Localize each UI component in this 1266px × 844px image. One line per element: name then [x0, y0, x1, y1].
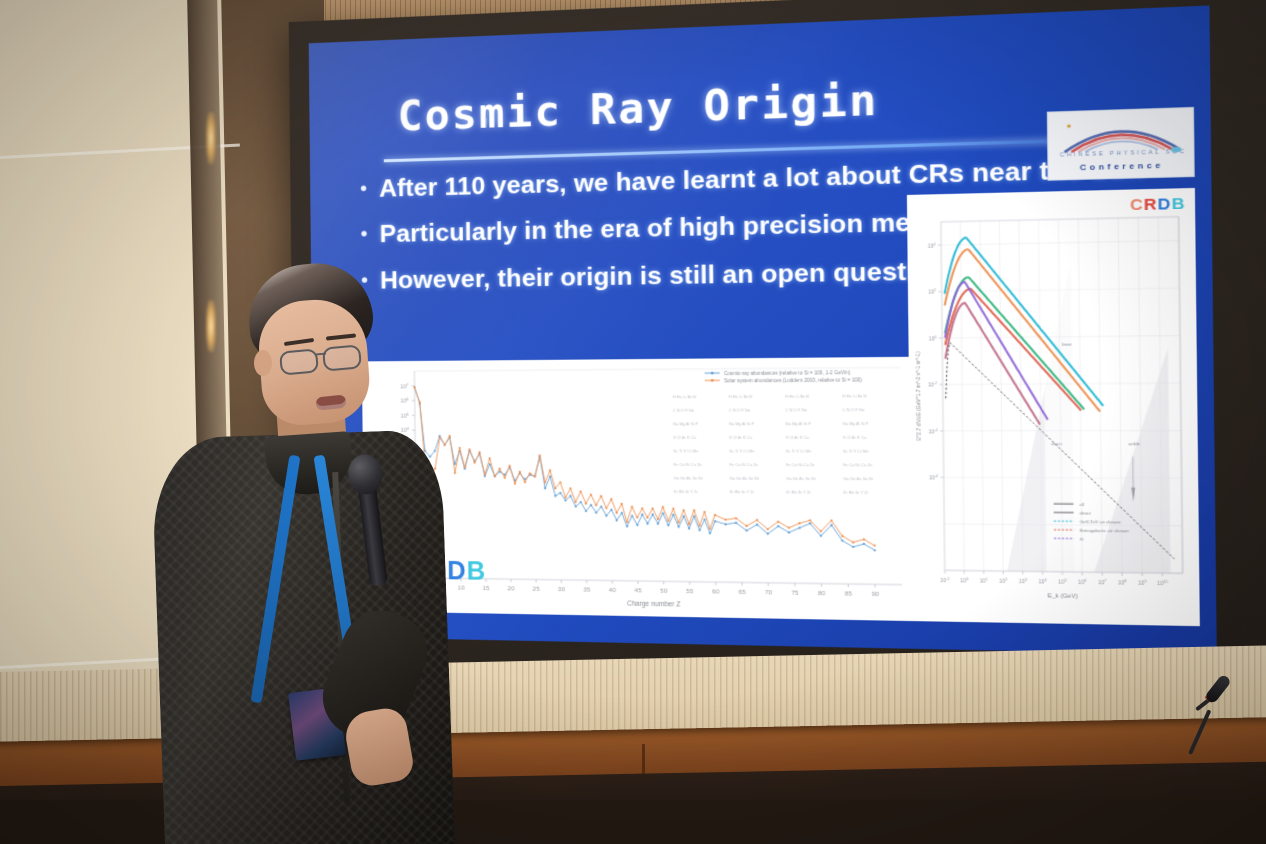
svg-text:knee: knee: [1062, 342, 1073, 348]
svg-text:Sc Ti V Cr Mn: Sc Ti V Cr Mn: [729, 449, 754, 453]
conference-logo: CHINESE PHYSICAL SOCIETY Conference: [1047, 107, 1195, 181]
svg-text:H He Li Be B: H He Li Be B: [729, 395, 753, 399]
svg-text:ankle: ankle: [1129, 441, 1141, 446]
svg-text:Sc Ti V Cr Mn: Sc Ti V Cr Mn: [786, 449, 812, 453]
svg-text:GeV-TeV air shower: GeV-TeV air shower: [1080, 519, 1122, 525]
svg-text:S Cl Ar K Ca: S Cl Ar K Ca: [673, 436, 697, 440]
svg-text:Sc Ti V Cr Mn: Sc Ti V Cr Mn: [843, 449, 869, 453]
svg-text:20: 20: [508, 586, 516, 592]
svg-text:direct: direct: [1080, 510, 1092, 516]
svg-text:E_k (GeV): E_k (GeV): [1048, 593, 1078, 600]
svg-text:C N O F Ne: C N O F Ne: [842, 408, 864, 412]
svg-text:H He Li Be B: H He Li Be B: [673, 395, 697, 399]
svg-text:55: 55: [686, 589, 694, 595]
svg-text:45: 45: [634, 588, 642, 594]
svg-text:S Cl Ar K Ca: S Cl Ar K Ca: [843, 436, 868, 440]
svg-text:Fe Co Ni Cu Zn: Fe Co Ni Cu Zn: [786, 463, 815, 467]
svg-text:90: 90: [872, 592, 880, 599]
speaker-ear: [254, 350, 272, 376]
svg-text:35: 35: [583, 587, 591, 593]
svg-text:70: 70: [765, 590, 773, 596]
svg-text:Na Mg Al Si P: Na Mg Al Si P: [843, 422, 869, 426]
crdb-letter-c: C: [1130, 196, 1144, 215]
crdb-letter-d: D: [1158, 195, 1172, 214]
bullet-marker-icon: •: [360, 176, 367, 200]
speaker: [120, 258, 480, 844]
svg-text:Kr Rb Sr Y Zr: Kr Rb Sr Y Zr: [843, 491, 869, 495]
glasses-lens-left: [279, 348, 319, 375]
slide-title: Cosmic Ray Origin: [397, 75, 879, 141]
bullet-marker-icon: •: [360, 222, 367, 246]
crdb-watermark-right: CRDB: [1130, 195, 1186, 215]
svg-text:Na Mg Al Si P: Na Mg Al Si P: [785, 422, 811, 426]
svg-text:50: 50: [660, 588, 668, 594]
svg-text:S Cl Ar K Ca: S Cl Ar K Ca: [786, 436, 810, 440]
wall-light-upper: [206, 112, 216, 164]
crdb-letter-b: B: [1172, 195, 1186, 214]
svg-text:Cosmic-ray abundances (relativ: Cosmic-ray abundances (relative to Si = …: [724, 370, 851, 376]
svg-text:Fe Co Ni Cu Zn: Fe Co Ni Cu Zn: [729, 463, 758, 467]
microphone-head: [346, 452, 385, 496]
svg-text:Ga Ge As Se Br: Ga Ge As Se Br: [674, 476, 704, 480]
glasses-lens-right: [322, 344, 362, 371]
svg-text:Sc Ti V Cr Mn: Sc Ti V Cr Mn: [673, 449, 698, 453]
svg-text:C N O F Ne: C N O F Ne: [785, 408, 807, 412]
svg-text:30: 30: [558, 587, 566, 593]
svg-text:60: 60: [712, 589, 720, 595]
svg-text:Charge number Z: Charge number Z: [627, 600, 681, 608]
svg-text:H He Li Be B: H He Li Be B: [785, 395, 810, 399]
svg-text:Kr Rb Sr Y Zr: Kr Rb Sr Y Zr: [674, 490, 699, 494]
svg-text:all: all: [1079, 502, 1084, 507]
svg-text:H He Li Be B: H He Li Be B: [842, 394, 867, 398]
svg-text:Extragalactic air shower: Extragalactic air shower: [1080, 528, 1130, 534]
svg-text:C N O F Ne: C N O F Ne: [729, 408, 750, 412]
svg-text:direct: direct: [1051, 441, 1063, 446]
svg-text:Ga Ge As Se Br: Ga Ge As Se Br: [843, 477, 874, 481]
presentation-photo-scene: Cosmic Ray Origin • After 110 years, we …: [0, 0, 1266, 844]
svg-text:Na Mg Al Si P: Na Mg Al Si P: [729, 422, 755, 426]
svg-text:Ga Ge As Se Br: Ga Ge As Se Br: [729, 477, 759, 481]
spectra-plot-svg: 10-11001011021031041051061071081091010E_…: [907, 188, 1200, 626]
svg-text:Solar system abundances (Lodde: Solar system abundances (Lodders 2003, r…: [724, 377, 862, 383]
svg-text:Fe Co Ni Cu Zn: Fe Co Ni Cu Zn: [673, 463, 701, 467]
svg-text:85: 85: [845, 591, 853, 598]
svg-text:Ga Ge As Se Br: Ga Ge As Se Br: [786, 477, 816, 481]
svg-text:75: 75: [791, 590, 799, 596]
svg-text:Na Mg Al Si P: Na Mg Al Si P: [673, 422, 699, 426]
crdb-letter-r: R: [1144, 195, 1158, 214]
svg-text:40: 40: [609, 588, 617, 594]
cosmic-ray-energy-spectra-chart[interactable]: 10-11001011021031041051061071081091010E_…: [907, 188, 1200, 626]
svg-text:S Cl Ar K Ca: S Cl Ar K Ca: [729, 436, 753, 440]
svg-text:80: 80: [818, 591, 826, 597]
svg-text:E^2.7 dN/dE (GeV^1.7 m^-2 s^-: E^2.7 dN/dE (GeV^1.7 m^-2 s^-1 sr^-1): [915, 351, 923, 441]
svg-text:25: 25: [533, 587, 541, 593]
svg-text:Kr Rb Sr Y Zr: Kr Rb Sr Y Zr: [786, 490, 812, 494]
svg-text:65: 65: [738, 590, 746, 596]
svg-text:Kr Rb Sr Y Zr: Kr Rb Sr Y Zr: [730, 490, 755, 494]
logo-line-2: Conference: [1058, 160, 1187, 173]
microphone-body: [358, 485, 388, 586]
svg-text:Fe Co Ni Cu Zn: Fe Co Ni Cu Zn: [843, 463, 872, 467]
svg-text:C N O F Ne: C N O F Ne: [673, 409, 694, 413]
